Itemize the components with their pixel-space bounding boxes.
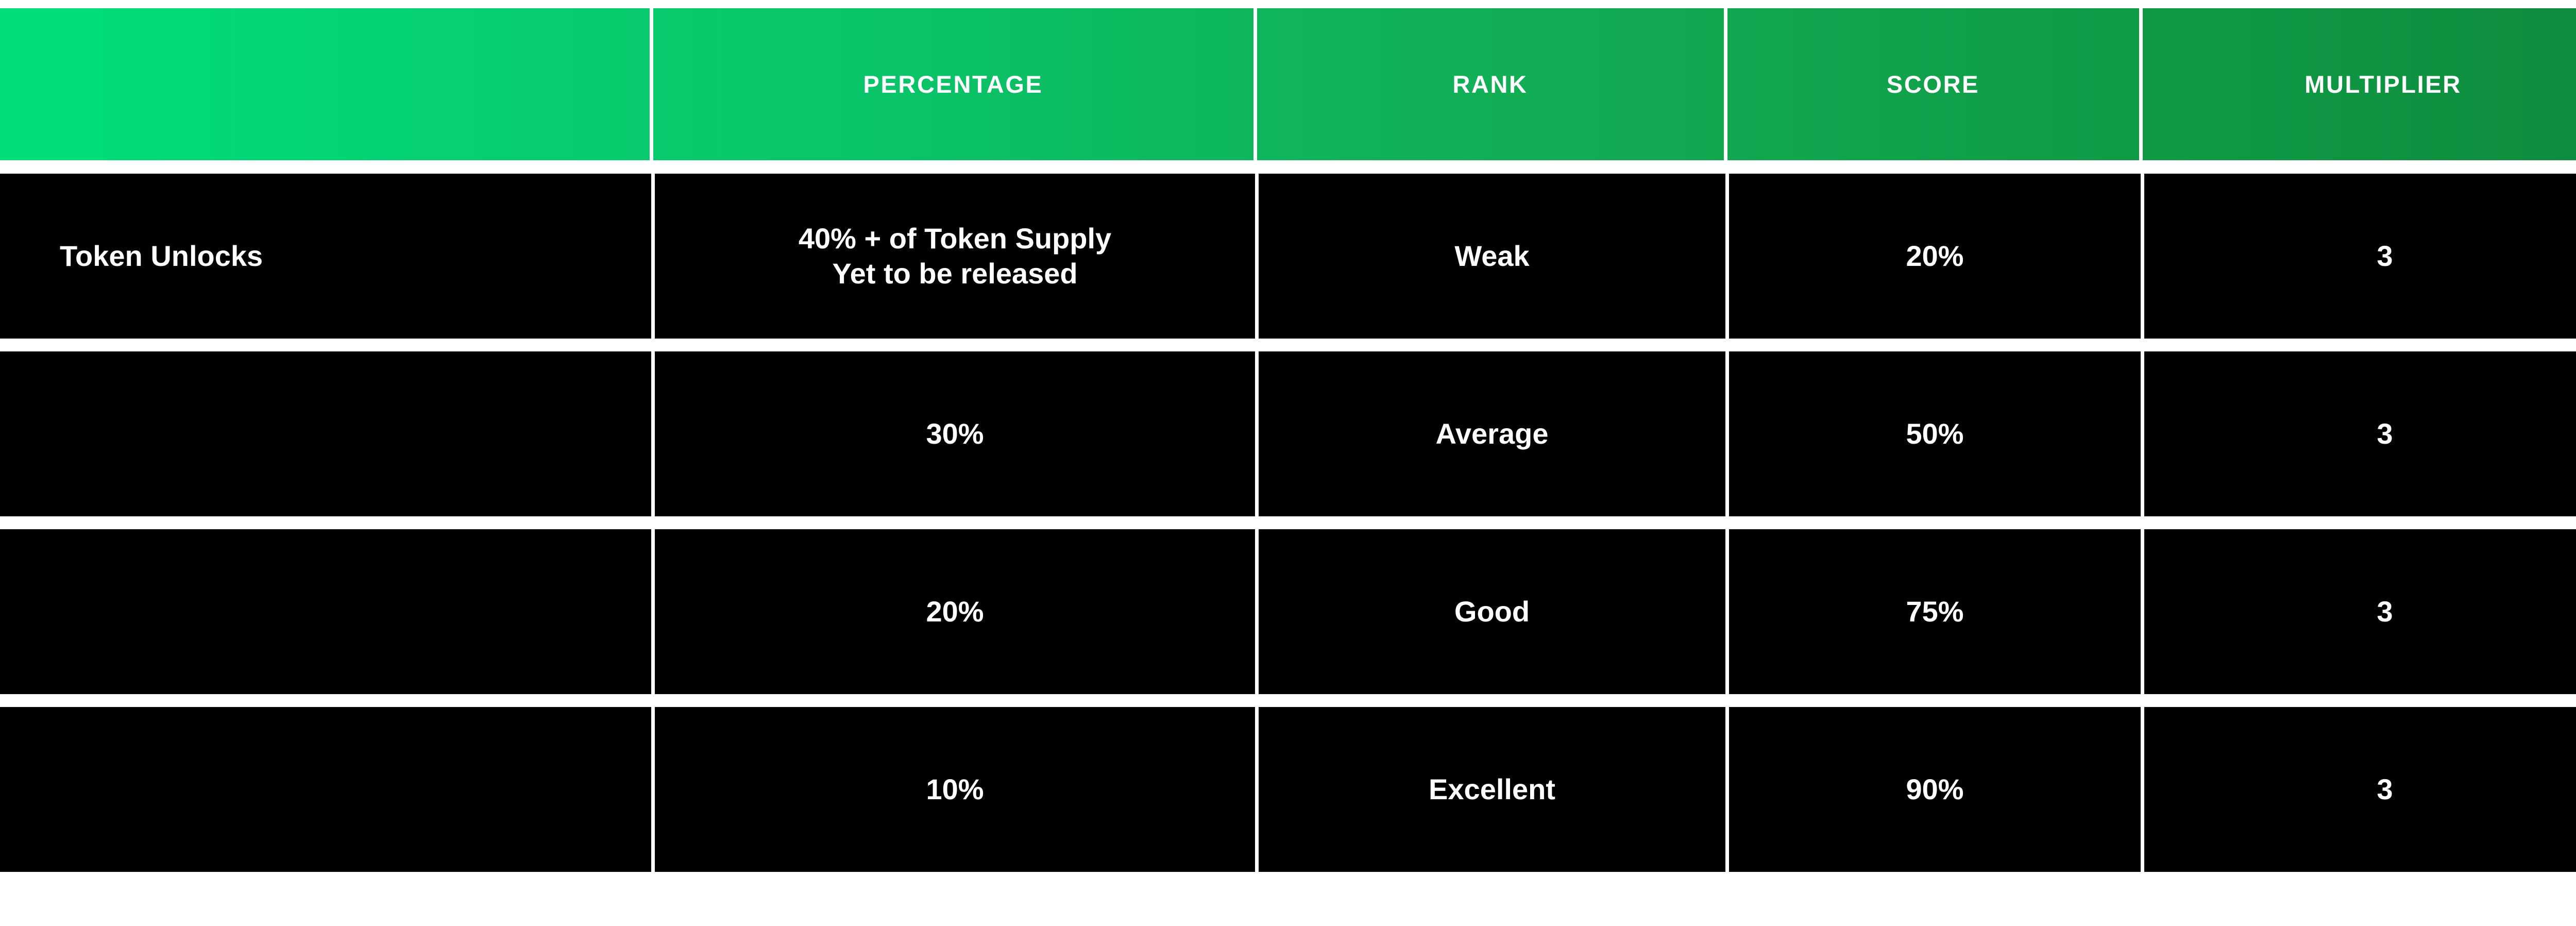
cell-score: 20% [1729,174,2141,339]
cell-percentage-text: 40% + of Token Supply Yet to be released [799,221,1111,292]
cell-score-text: 90% [1906,772,1963,807]
cell-score: 50% [1729,351,2141,516]
cell-multiplier-text: 3 [2377,594,2393,629]
cell-rank-text: Good [1454,594,1530,629]
cell-score: 90% [1729,707,2141,872]
column-header-multiplier: MULTIPLIER [2141,8,2576,160]
cell-multiplier: 3 [2144,174,2576,339]
cell-percentage-line-1: 20% [926,594,984,629]
cell-multiplier: 3 [2144,529,2576,694]
cell-percentage: 10% [655,707,1255,872]
cell-multiplier-text: 3 [2377,416,2393,451]
cell-rank: Good [1259,529,1725,694]
cell-multiplier: 3 [2144,707,2576,872]
cell-rank-text: Weak [1454,239,1529,274]
cell-rank: Excellent [1259,707,1725,872]
scoring-table: PERCENTAGE RANK SCORE MULTIPLIER Token U… [0,0,2576,926]
cell-multiplier-text: 3 [2377,239,2393,274]
cell-score-text: 75% [1906,594,1963,629]
table-row: 30% Average 50% 3 [0,351,2576,516]
cell-criteria [0,351,651,516]
cell-percentage-line-1: 10% [926,772,984,807]
cell-percentage-line-1: 40% + of Token Supply [799,221,1111,256]
cell-score-text: 20% [1906,239,1963,274]
cell-percentage: 20% [655,529,1255,694]
column-header-rank: RANK [1255,8,1725,160]
cell-score: 75% [1729,529,2141,694]
cell-percentage: 30% [655,351,1255,516]
column-header-score: SCORE [1725,8,2141,160]
cell-criteria [0,707,651,872]
table-row: 10% Excellent 90% 3 [0,707,2576,872]
column-header-criteria [0,8,651,160]
table-row: Token Unlocks 40% + of Token Supply Yet … [0,174,2576,339]
cell-percentage-text: 20% [926,594,984,629]
column-header-rank-label: RANK [1452,70,1528,98]
cell-criteria: Token Unlocks [0,174,651,339]
cell-percentage-text: 30% [926,416,984,451]
cell-criteria-text: Token Unlocks [60,239,263,274]
cell-percentage: 40% + of Token Supply Yet to be released [655,174,1255,339]
cell-rank: Average [1259,351,1725,516]
column-header-percentage: PERCENTAGE [651,8,1255,160]
cell-multiplier: 3 [2144,351,2576,516]
cell-percentage-line-2: Yet to be released [799,256,1111,291]
cell-rank-text: Excellent [1429,772,1555,807]
cell-percentage-text: 10% [926,772,984,807]
column-header-percentage-label: PERCENTAGE [863,70,1043,98]
column-header-score-label: SCORE [1887,70,1979,98]
cell-rank-text: Average [1436,416,1549,451]
cell-rank: Weak [1259,174,1725,339]
cell-criteria [0,529,651,694]
column-header-multiplier-label: MULTIPLIER [2304,70,2462,98]
cell-multiplier-text: 3 [2377,772,2393,807]
cell-percentage-line-1: 30% [926,416,984,451]
table-header-row: PERCENTAGE RANK SCORE MULTIPLIER [0,8,2576,160]
cell-score-text: 50% [1906,416,1963,451]
table-row: 20% Good 75% 3 [0,529,2576,694]
